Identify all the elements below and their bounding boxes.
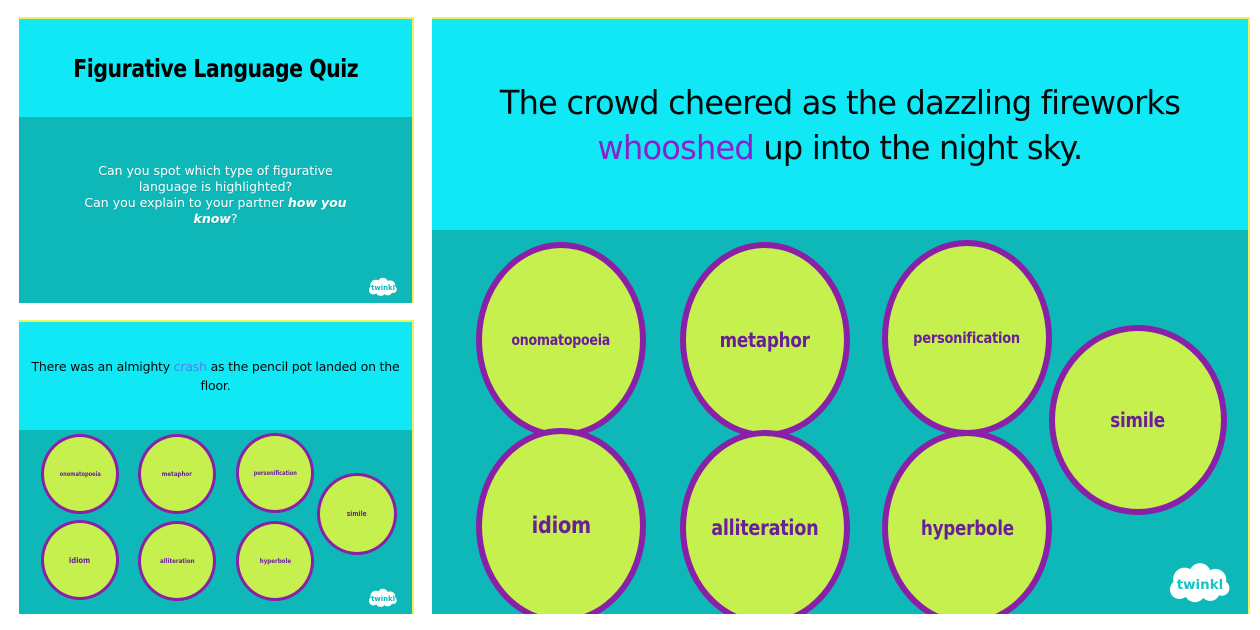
answer-bubble-simile[interactable]: simile	[317, 473, 397, 555]
svg-text:twinkl: twinkl	[371, 284, 395, 292]
highlighted-word: whooshed	[598, 128, 754, 167]
sentence-before-highlight: The crowd cheered as the dazzling firewo…	[500, 83, 1180, 122]
instruction-question-mark: ?	[231, 211, 238, 226]
title-slide-body: Can you spot which type of figurative la…	[19, 117, 412, 303]
sentence-after-highlight: up into the night sky.	[754, 128, 1082, 167]
highlighted-word: crash	[174, 359, 207, 374]
main-slide-body: onomatopoeia metaphor personification si…	[432, 230, 1248, 614]
question-thumbnail-sentence: There was an almighty crash as the penci…	[31, 357, 400, 395]
question-thumbnail-header: There was an almighty crash as the penci…	[19, 322, 412, 430]
answer-bubble-label: personification	[253, 470, 296, 477]
answer-bubble-hyperbole[interactable]: hyperbole	[236, 521, 314, 601]
sentence-before-highlight: There was an almighty	[32, 359, 174, 374]
answer-bubble-label: metaphor	[162, 470, 192, 478]
answer-bubble-label: alliteration	[711, 516, 818, 540]
twinkl-logo: twinkl	[1168, 562, 1232, 604]
answer-bubble-label: idiom	[531, 513, 590, 539]
answer-bubble-label: simile	[347, 510, 367, 518]
answer-bubble-hyperbole[interactable]: hyperbole	[882, 430, 1052, 614]
answer-bubble-personification[interactable]: personification	[236, 433, 314, 513]
answer-bubble-label: hyperbole	[259, 557, 290, 565]
main-slide[interactable]: The crowd cheered as the dazzling firewo…	[432, 17, 1250, 614]
answer-bubble-onomatopoeia[interactable]: onomatopoeia	[476, 242, 646, 438]
slide-thumbnail-title[interactable]: Figurative Language Quiz Can you spot wh…	[19, 17, 414, 303]
instruction-line-2: language is highlighted?	[139, 179, 292, 194]
main-slide-header: The crowd cheered as the dazzling firewo…	[432, 19, 1248, 230]
answer-bubble-metaphor[interactable]: metaphor	[680, 242, 850, 438]
answer-bubble-label: alliteration	[160, 557, 195, 565]
instruction-emphasis-how: how	[288, 195, 317, 210]
slide-thumbnail-question[interactable]: There was an almighty crash as the penci…	[19, 320, 414, 614]
answer-bubble-idiom[interactable]: idiom	[41, 520, 119, 600]
answer-bubble-metaphor[interactable]: metaphor	[138, 434, 216, 514]
page-title: Figurative Language Quiz	[73, 54, 358, 83]
main-slide-sentence: The crowd cheered as the dazzling firewo…	[483, 80, 1197, 170]
answer-bubble-label: onomatopoeia	[512, 331, 611, 349]
question-thumbnail-body: onomatopoeia metaphor personification si…	[19, 430, 412, 614]
screenshot-canvas: Figurative Language Quiz Can you spot wh…	[0, 0, 1260, 630]
answer-bubble-onomatopoeia[interactable]: onomatopoeia	[41, 434, 119, 514]
answer-bubble-simile[interactable]: simile	[1049, 325, 1227, 515]
answer-bubble-alliteration[interactable]: alliteration	[680, 430, 850, 614]
title-slide-header: Figurative Language Quiz	[19, 19, 412, 117]
svg-text:twinkl: twinkl	[1177, 578, 1224, 593]
answer-bubble-idiom[interactable]: idiom	[476, 428, 646, 614]
twinkl-logo: twinkl	[368, 277, 398, 297]
twinkl-logo: twinkl	[368, 588, 398, 608]
answer-bubble-label: onomatopoeia	[59, 471, 100, 478]
instruction-line-3: Can you explain to your partner	[84, 195, 288, 210]
answer-bubble-label: hyperbole	[920, 516, 1013, 540]
answer-bubble-label: idiom	[69, 556, 90, 565]
instruction-line-1: Can you spot which type of figurative	[98, 163, 333, 178]
answer-bubble-alliteration[interactable]: alliteration	[138, 521, 216, 601]
sentence-after-highlight: as the pencil pot landed on the floor.	[201, 359, 400, 393]
answer-bubble-label: personification	[914, 329, 1021, 347]
answer-bubble-personification[interactable]: personification	[882, 240, 1052, 436]
answer-bubble-label: simile	[1111, 408, 1166, 432]
answer-bubble-label: metaphor	[720, 328, 810, 352]
title-slide-instructions: Can you spot which type of figurative la…	[73, 163, 358, 227]
svg-text:twinkl: twinkl	[371, 595, 395, 603]
